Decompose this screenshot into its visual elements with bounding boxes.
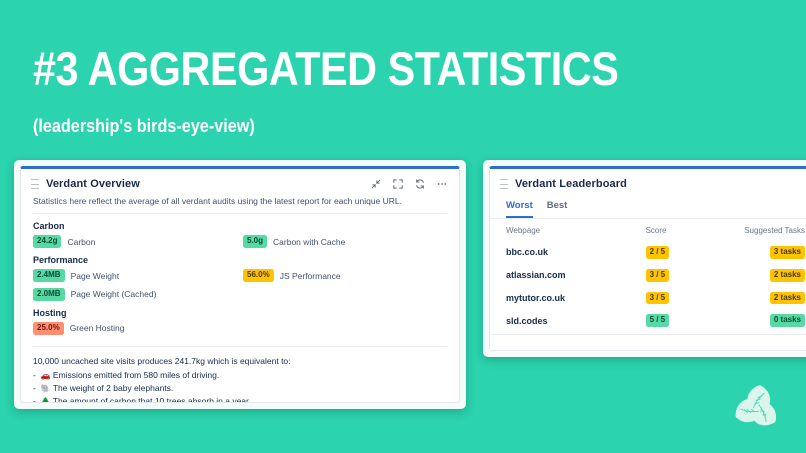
stat-badge: 25.0% xyxy=(33,322,64,335)
column-header-tasks: Suggested Tasks xyxy=(728,219,806,241)
cell-tasks: 3 tasks xyxy=(728,241,806,264)
cell-webpage: bbc.co.uk xyxy=(490,241,646,264)
leaderboard-card-body: Worst Best Webpage Score Suggested Tasks… xyxy=(490,196,806,335)
leaderboard-card-inner: Verdant Leaderboard Worst Best Webpage S… xyxy=(489,166,806,351)
tab-best[interactable]: Best xyxy=(547,200,568,218)
stat-badge: 24.2g xyxy=(33,235,61,248)
performance-stats: 2.4MB Page Weight 56.0% JS Performance 2… xyxy=(33,269,447,301)
equivalency-text: The weight of 2 baby elephants. xyxy=(53,383,174,393)
stat-label: Page Weight (Cached) xyxy=(71,289,157,299)
equivalency-text: The amount of carbon that 10 trees absor… xyxy=(53,396,251,403)
stat-label: Carbon with Cache xyxy=(273,237,345,247)
tasks-badge: 0 tasks xyxy=(770,314,805,327)
overview-card-title: Verdant Overview xyxy=(46,178,140,190)
section-title-hosting: Hosting xyxy=(33,308,447,318)
stat-page-weight-cached: 2.0MB Page Weight (Cached) xyxy=(33,288,237,301)
list-dash: - xyxy=(33,383,38,393)
stat-label: JS Performance xyxy=(280,271,341,281)
page-title: #3 AGGREGATED STATISTICS xyxy=(33,44,618,93)
page-subtitle: (leadership's birds-eye-view) xyxy=(33,116,255,137)
cell-score: 3 / 5 xyxy=(646,264,729,287)
drag-handle-icon[interactable] xyxy=(31,179,39,189)
leaderboard-table-body: bbc.co.uk 2 / 5 3 tasks atlassian.com 3 … xyxy=(490,241,806,335)
table-row[interactable]: bbc.co.uk 2 / 5 3 tasks xyxy=(490,241,806,264)
tasks-badge: 2 tasks xyxy=(770,292,805,305)
column-header-webpage: Webpage xyxy=(490,219,646,241)
table-row[interactable]: mytutor.co.uk 3 / 5 2 tasks xyxy=(490,287,806,310)
cell-webpage: sld.codes xyxy=(490,309,646,334)
stat-badge: 56.0% xyxy=(243,269,274,282)
carbon-stats: 24.2g Carbon 5.0g Carbon with Cache xyxy=(33,235,447,248)
overview-card-inner: Verdant Overview xyxy=(20,166,460,403)
cell-tasks: 2 tasks xyxy=(728,287,806,310)
cell-score: 2 / 5 xyxy=(646,241,729,264)
section-title-carbon: Carbon xyxy=(33,221,447,231)
table-header-row: Webpage Score Suggested Tasks xyxy=(490,219,806,241)
cell-score: 5 / 5 xyxy=(646,309,729,334)
cell-webpage: mytutor.co.uk xyxy=(490,287,646,310)
overview-header-actions xyxy=(370,178,448,190)
stat-carbon: 24.2g Carbon xyxy=(33,235,237,248)
cell-tasks: 2 tasks xyxy=(728,264,806,287)
list-dash: - xyxy=(33,370,38,380)
stat-js-performance: 56.0% JS Performance xyxy=(243,269,447,282)
expand-icon[interactable] xyxy=(392,178,404,190)
equivalency-item: - 🌲 The amount of carbon that 10 trees a… xyxy=(33,395,447,403)
verdant-leaf-logo xyxy=(726,377,788,439)
cell-score: 3 / 5 xyxy=(646,287,729,310)
overview-card-body: Statistics here reflect the average of a… xyxy=(21,196,459,403)
table-row[interactable]: atlassian.com 3 / 5 2 tasks xyxy=(490,264,806,287)
stat-spacer xyxy=(243,288,447,301)
leaderboard-table: Webpage Score Suggested Tasks bbc.co.uk … xyxy=(490,219,806,335)
score-badge: 2 / 5 xyxy=(646,246,670,259)
cell-webpage: atlassian.com xyxy=(490,264,646,287)
equivalency-text: Emissions emitted from 580 miles of driv… xyxy=(53,370,219,380)
stat-badge: 5.0g xyxy=(243,235,267,248)
verdant-leaderboard-card: Verdant Leaderboard Worst Best Webpage S… xyxy=(483,160,806,357)
car-emoji: 🚗 xyxy=(41,371,51,380)
stat-label: Green Hosting xyxy=(70,323,125,333)
leaderboard-table-head: Webpage Score Suggested Tasks xyxy=(490,219,806,241)
leaderboard-card-header: Verdant Leaderboard xyxy=(490,169,806,196)
elephant-emoji: 🐘 xyxy=(41,384,51,393)
stat-badge: 2.0MB xyxy=(33,288,65,301)
equivalency-item: - 🚗 Emissions emitted from 580 miles of … xyxy=(33,369,447,382)
equivalency-lead: 10,000 uncached site visits produces 241… xyxy=(33,356,447,366)
stat-spacer xyxy=(243,322,447,335)
column-header-score: Score xyxy=(646,219,729,241)
stat-label: Page Weight xyxy=(71,271,120,281)
stat-carbon-with-cache: 5.0g Carbon with Cache xyxy=(243,235,447,248)
collapse-icon[interactable] xyxy=(370,178,382,190)
score-badge: 3 / 5 xyxy=(646,269,670,282)
refresh-icon[interactable] xyxy=(414,178,426,190)
leaderboard-card-title: Verdant Leaderboard xyxy=(515,178,627,190)
overview-card-header: Verdant Overview xyxy=(21,169,459,196)
cell-tasks: 0 tasks xyxy=(728,309,806,334)
stat-green-hosting: 25.0% Green Hosting xyxy=(33,322,237,335)
verdant-overview-card: Verdant Overview xyxy=(14,160,466,409)
stat-badge: 2.4MB xyxy=(33,269,65,282)
tasks-badge: 2 tasks xyxy=(770,269,805,282)
tree-emoji: 🌲 xyxy=(41,397,51,403)
table-row[interactable]: sld.codes 5 / 5 0 tasks xyxy=(490,309,806,334)
stat-label: Carbon xyxy=(67,237,95,247)
equivalency-item: - 🐘 The weight of 2 baby elephants. xyxy=(33,382,447,395)
hosting-stats: 25.0% Green Hosting xyxy=(33,322,447,335)
list-dash: - xyxy=(33,396,38,403)
score-badge: 5 / 5 xyxy=(646,314,670,327)
section-title-performance: Performance xyxy=(33,255,447,265)
leaderboard-tabs: Worst Best xyxy=(490,196,806,219)
score-badge: 3 / 5 xyxy=(646,292,670,305)
more-options-icon[interactable] xyxy=(436,178,448,190)
stat-page-weight: 2.4MB Page Weight xyxy=(33,269,237,282)
tasks-badge: 3 tasks xyxy=(770,246,805,259)
drag-handle-icon[interactable] xyxy=(500,179,508,189)
overview-note: Statistics here reflect the average of a… xyxy=(33,196,447,214)
equivalency-block: 10,000 uncached site visits produces 241… xyxy=(33,346,447,403)
tab-worst[interactable]: Worst xyxy=(506,200,533,218)
